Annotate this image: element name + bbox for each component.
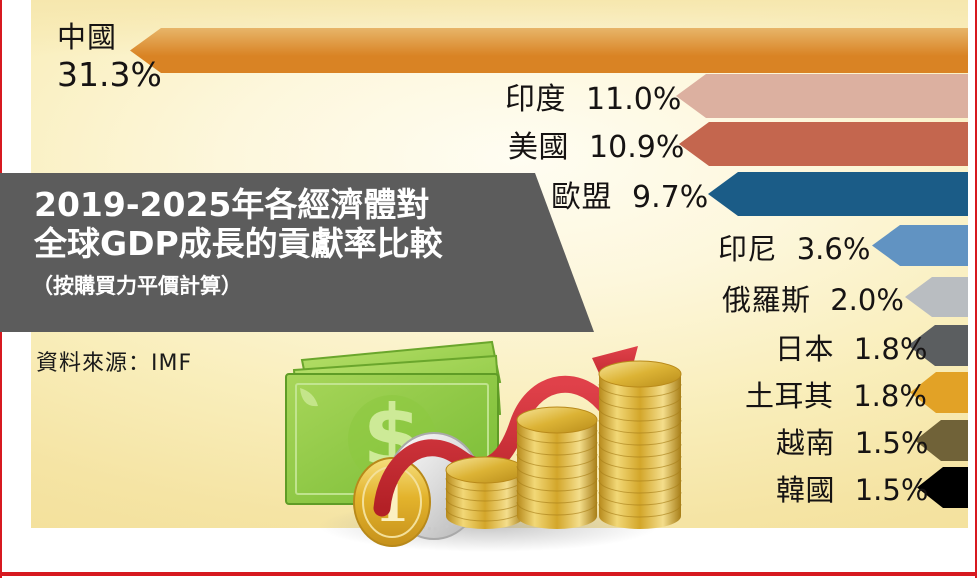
- label-vietnam-value: 1.5%: [855, 426, 929, 460]
- coin-stack-tall: [599, 361, 681, 529]
- coin-stack-small: [446, 457, 524, 529]
- title-line-1: 2019-2025年各經濟體對: [34, 173, 600, 225]
- title-subtitle: （按購買力平價計算）: [32, 270, 600, 300]
- label-turkey-value: 1.8%: [853, 379, 927, 413]
- title-line-2: 全球GDP成長的貢獻率比較: [34, 225, 600, 264]
- label-china-name: 中國: [57, 22, 162, 53]
- coin-stack-medium: [517, 407, 597, 529]
- label-korea: 韓國 1.5%: [776, 467, 928, 509]
- label-eu-value: 9.7%: [632, 180, 708, 215]
- label-india-value: 11.0%: [586, 82, 681, 117]
- label-china: 中國 31.3%: [57, 22, 162, 93]
- label-korea-name: 韓國: [776, 473, 835, 507]
- label-japan-value: 1.8%: [854, 332, 928, 366]
- bar-eu-shape: [708, 172, 968, 216]
- label-vietnam: 越南 1.5%: [776, 420, 928, 462]
- label-eu-name: 歐盟: [551, 180, 612, 215]
- bar-china: [130, 28, 968, 73]
- bar-indonesia-shape: [872, 225, 968, 266]
- bar-eu: [708, 172, 968, 216]
- label-india: 印度 11.0%: [505, 74, 681, 118]
- source-label: 資料來源：IMF: [36, 345, 192, 377]
- bar-india: [676, 74, 968, 118]
- bar-russia-shape: [905, 277, 968, 317]
- title-block: 2019-2025年各經濟體對 全球GDP成長的貢獻率比較 （按購買力平價計算）: [0, 173, 600, 332]
- label-indonesia: 印尼 3.6%: [718, 226, 870, 268]
- label-japan-name: 日本: [775, 332, 834, 366]
- label-japan: 日本 1.8%: [775, 326, 927, 368]
- bar-usa-shape: [679, 122, 968, 166]
- label-usa-name: 美國: [508, 130, 569, 165]
- label-china-value: 31.3%: [57, 57, 162, 93]
- bar-indonesia: [872, 225, 968, 266]
- bar-india-shape: [676, 74, 968, 118]
- infographic-canvas: $ 1: [0, 0, 977, 578]
- label-eu: 歐盟 9.7%: [551, 172, 708, 216]
- label-russia: 俄羅斯 2.0%: [722, 277, 904, 319]
- label-india-name: 印度: [505, 82, 566, 117]
- label-indonesia-name: 印尼: [718, 232, 777, 266]
- money-growth-illustration: $ 1: [274, 318, 734, 558]
- bar-china-shape: [130, 28, 968, 73]
- bar-usa: [679, 122, 968, 166]
- label-russia-name: 俄羅斯: [722, 283, 811, 317]
- label-turkey-name: 土耳其: [745, 379, 834, 413]
- label-usa: 美國 10.9%: [508, 122, 684, 166]
- frame-bottom-rule: [0, 572, 977, 576]
- label-usa-value: 10.9%: [589, 130, 684, 165]
- bar-russia: [905, 277, 968, 317]
- label-turkey: 土耳其 1.8%: [745, 373, 927, 415]
- label-vietnam-name: 越南: [776, 426, 835, 460]
- label-korea-value: 1.5%: [855, 473, 929, 507]
- label-indonesia-value: 3.6%: [797, 232, 871, 266]
- label-russia-value: 2.0%: [830, 283, 904, 317]
